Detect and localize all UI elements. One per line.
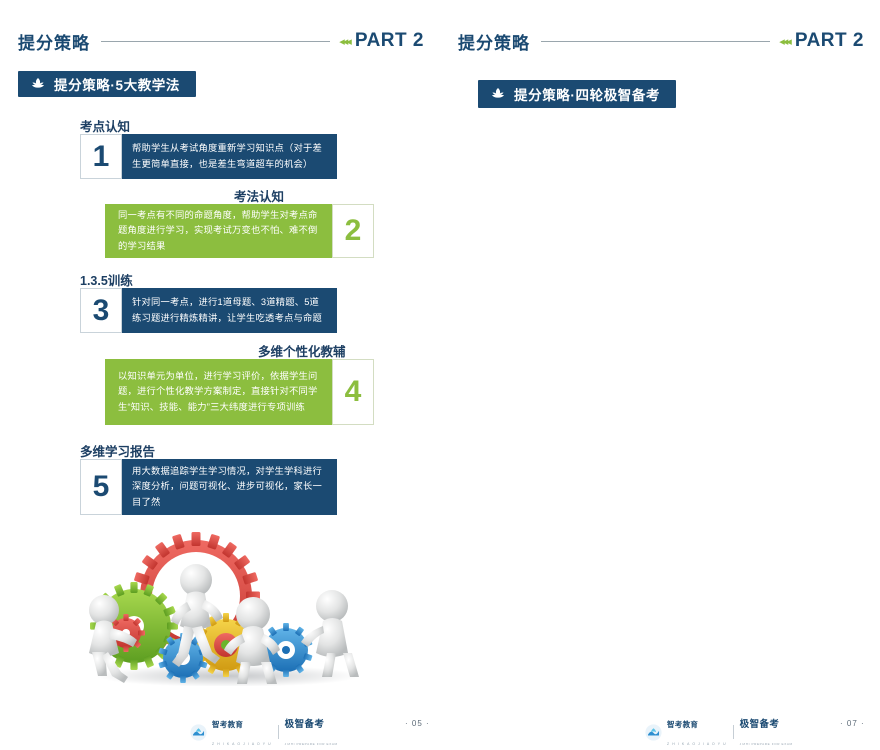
block-number-5: 5 — [80, 459, 122, 515]
right-section-badge: 提分策略·四轮极智备考 — [478, 80, 676, 108]
block-label-2: 考法认知 — [234, 186, 284, 205]
round-4-title: 四轮：AI大数据押题冲刺 — [876, 232, 880, 248]
brand-name-pinyin: Z H I K A O J I A O Y U — [212, 742, 272, 746]
block-number-4: 4 — [332, 359, 374, 425]
block-text-4: 以知识单元为单位，进行学习评价，依据学生问题，进行个性化教学方案制定，直接针对不… — [105, 359, 332, 425]
brand-slogan-sub: JIZHI PREPARE FOR EXAM — [740, 742, 793, 746]
block-label-1: 考点认知 — [80, 116, 130, 135]
block-text-2: 同一考点有不同的命题角度，帮助学生对考点命题角度进行学习，实现考试万变也不怕、难… — [105, 204, 332, 258]
left-footer: 智考教育 Z H I K A O J I A O Y U 极智备考 JIZHI … — [0, 714, 440, 734]
lotus-icon — [490, 86, 506, 102]
brand-name-pinyin: Z H I K A O J I A O Y U — [667, 742, 727, 746]
block-number-2: 2 — [332, 204, 374, 258]
right-section-badge-text: 提分策略·四轮极智备考 — [514, 84, 660, 104]
triple-chevron-left-icon: ◂◂◂ — [339, 35, 350, 48]
brand-slogan: 极智备考 — [740, 719, 780, 730]
right-brand-logo: 智考教育 Z H I K A O J I A O Y U 极智备考 JIZHI … — [645, 714, 793, 750]
round-4-line-3: 命题让学生借助巧力的突破 — [876, 280, 880, 293]
block-label-4: 多维个性化教辅 — [258, 341, 346, 360]
numbered-block-5: 5 用大数据追踪学生学习情况，对学生学科进行深度分析，问题可视化、进步可视化，家… — [80, 459, 337, 515]
brand-mark-icon — [190, 724, 207, 741]
figure-pushing-right — [301, 590, 359, 677]
running-head-rule — [101, 41, 330, 42]
logo-divider — [278, 725, 279, 739]
round-4-line-2: 结合大数据直接破解 — [876, 266, 880, 279]
left-brand-logo: 智考教育 Z H I K A O J I A O Y U 极智备考 JIZHI … — [190, 714, 338, 750]
logo-divider — [733, 725, 734, 739]
left-section-badge: 提分策略·5大教学法 — [18, 71, 196, 97]
numbered-block-1: 1 帮助学生从考试角度重新学习知识点（对于差生更简单直接，也是差生弯道超车的机会… — [80, 134, 337, 179]
running-head-title: 提分策略 — [18, 29, 90, 54]
numbered-block-3: 3 针对同一考点，进行1道母题、3道精题、5道练习题进行精炼精讲，让学生吃透考点… — [80, 288, 337, 333]
triple-chevron-left-icon: ◂◂◂ — [779, 35, 790, 48]
lotus-icon — [30, 76, 46, 92]
block-text-5: 用大数据追踪学生学习情况，对学生学科进行深度分析，问题可视化、进步可视化，家长一… — [122, 459, 337, 515]
brand-name: 智考教育 — [212, 720, 243, 729]
gears-teamwork-illustration — [78, 518, 378, 686]
left-page-number: · 05 · — [405, 719, 430, 728]
numbered-block-4: 4 以知识单元为单位，进行学习评价，依据学生问题，进行个性化教学方案制定，直接针… — [105, 359, 374, 425]
magazine-spread: 提分策略 ◂◂◂ PART 2 提分策略·5大教学法 考点认知 1 帮助学生从考… — [0, 0, 880, 750]
running-head-title: 提分策略 — [458, 29, 530, 54]
block-number-3: 3 — [80, 288, 122, 333]
right-page: 提分策略 ◂◂◂ PART 2 提分策略·四轮极智备考 — [440, 0, 880, 750]
brand-slogan: 极智备考 — [285, 719, 325, 730]
right-running-head: 提分策略 ◂◂◂ PART 2 — [458, 28, 864, 54]
brand-name: 智考教育 — [667, 720, 698, 729]
block-text-3: 针对同一考点，进行1道母题、3道精题、5道练习题进行精炼精讲，让学生吃透考点与命… — [122, 288, 337, 333]
round-4: 四轮：AI大数据押题冲刺 通过押题与猜题讲解 结合大数据直接破解 命题让学生借助… — [876, 232, 880, 307]
running-head-part: PART 2 — [795, 30, 864, 52]
block-label-3: 1.3.5训练 — [80, 270, 133, 289]
round-4-line-1: 通过押题与猜题讲解 — [876, 253, 880, 266]
left-running-head: 提分策略 ◂◂◂ PART 2 — [18, 28, 424, 54]
brand-mark-icon — [645, 724, 662, 741]
running-head-part: PART 2 — [355, 30, 424, 52]
left-section-badge-text: 提分策略·5大教学法 — [54, 74, 180, 94]
block-label-5: 多维学习报告 — [80, 441, 155, 460]
right-page-number: · 07 · — [840, 719, 865, 728]
block-text-1: 帮助学生从考试角度重新学习知识点（对于差生更简单直接，也是差生弯道超车的机会） — [122, 134, 337, 179]
left-page: 提分策略 ◂◂◂ PART 2 提分策略·5大教学法 考点认知 1 帮助学生从考… — [0, 0, 440, 750]
right-footer: 智考教育 Z H I K A O J I A O Y U 极智备考 JIZHI … — [440, 714, 880, 734]
block-number-1: 1 — [80, 134, 122, 179]
numbered-block-2: 2 同一考点有不同的命题角度，帮助学生对考点命题角度进行学习，实现考试万变也不怕… — [105, 204, 374, 258]
running-head-rule — [541, 41, 770, 42]
brand-slogan-sub: JIZHI PREPARE FOR EXAM — [285, 742, 338, 746]
round-4-line-4: 再夺高分 — [876, 293, 880, 306]
